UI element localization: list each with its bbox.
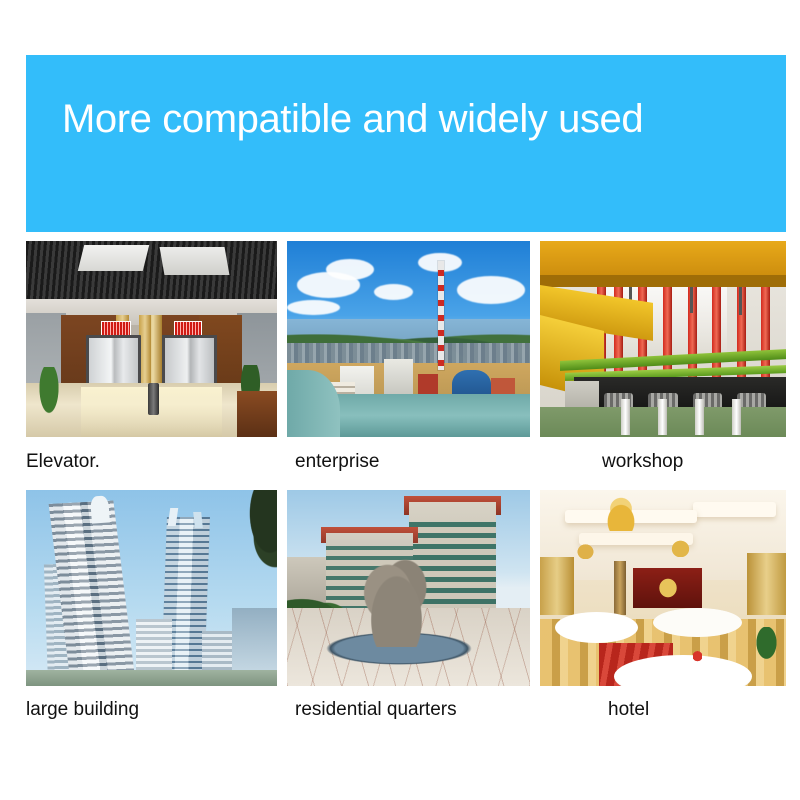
application-gallery: Elevator. enterprise — [0, 241, 800, 739]
industrial-city-aerial-photo — [287, 241, 530, 437]
gallery-caption: workshop — [540, 452, 786, 471]
gallery-cell-workshop[interactable]: workshop — [540, 241, 786, 471]
gallery-caption: Elevator. — [26, 452, 277, 471]
gallery-caption: residential quarters — [287, 700, 530, 719]
gallery-row: Elevator. enterprise — [0, 241, 800, 490]
gallery-cell-large-building[interactable]: large building — [26, 490, 277, 719]
residential-fountain-photo — [287, 490, 530, 686]
gallery-caption: enterprise — [287, 452, 530, 471]
page-title: More compatible and widely used — [62, 99, 643, 139]
gallery-caption: hotel — [540, 700, 786, 719]
gallery-cell-hotel[interactable]: hotel — [540, 490, 786, 719]
gallery-cell-enterprise[interactable]: enterprise — [287, 241, 530, 471]
hotel-banquet-hall-photo — [540, 490, 786, 686]
elevator-lobby-photo — [26, 241, 277, 437]
gallery-caption: large building — [26, 700, 277, 719]
factory-workshop-photo — [540, 241, 786, 437]
skyscrapers-photo — [26, 490, 277, 686]
gallery-cell-elevator[interactable]: Elevator. — [26, 241, 277, 471]
hero-banner: More compatible and widely used — [26, 55, 786, 232]
gallery-cell-residential-quarters[interactable]: residential quarters — [287, 490, 530, 719]
gallery-row: large building residential quarters — [0, 490, 800, 739]
